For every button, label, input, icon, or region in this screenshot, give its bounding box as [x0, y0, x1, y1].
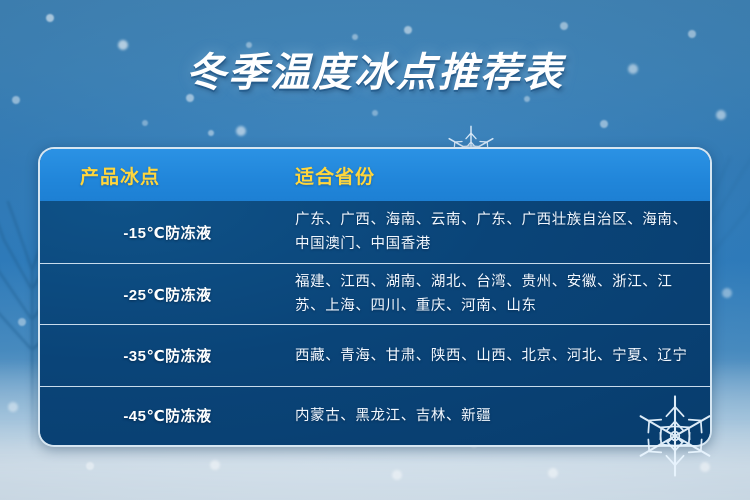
- table-row: -45℃防冻液 内蒙古、黑龙江、吉林、新疆: [40, 386, 710, 444]
- column-header-provinces: 适合省份: [255, 162, 375, 189]
- cell-provinces: 福建、江西、湖南、湖北、台湾、贵州、安徽、浙江、江苏、上海、四川、重庆、河南、山…: [295, 270, 710, 318]
- cell-provinces: 西藏、青海、甘肃、陕西、山西、北京、河北、宁夏、辽宁: [295, 344, 710, 368]
- cell-provinces: 广东、广西、海南、云南、广东、广西壮族自治区、海南、中国澳门、中国香港: [295, 208, 710, 256]
- table-row: -25℃防冻液 福建、江西、湖南、湖北、台湾、贵州、安徽、浙江、江苏、上海、四川…: [40, 263, 710, 324]
- cell-freezing-point: -35℃防冻液: [40, 345, 295, 366]
- cell-freezing-point: -45℃防冻液: [40, 405, 295, 426]
- cell-freezing-point: -25℃防冻液: [40, 284, 295, 305]
- cell-freezing-point: -15℃防冻液: [40, 222, 295, 243]
- table-row: -15℃防冻液 广东、广西、海南、云南、广东、广西壮族自治区、海南、中国澳门、中…: [40, 201, 710, 263]
- cell-provinces: 内蒙古、黑龙江、吉林、新疆: [295, 404, 710, 428]
- table-body: -15℃防冻液 广东、广西、海南、云南、广东、广西壮族自治区、海南、中国澳门、中…: [40, 201, 710, 445]
- page-title: 冬季温度冰点推荐表: [0, 40, 750, 98]
- table-row: -35℃防冻液 西藏、青海、甘肃、陕西、山西、北京、河北、宁夏、辽宁: [40, 324, 710, 386]
- column-header-freezing-point: 产品冰点: [40, 162, 255, 189]
- winter-antifreeze-recommendation-poster: 冬季温度冰点推荐表: [0, 0, 750, 500]
- table-header-row: 产品冰点 适合省份: [40, 149, 710, 201]
- recommendation-table: 产品冰点 适合省份 -15℃防冻液 广东、广西、海南、云南、广东、广西壮族自治区…: [38, 147, 712, 447]
